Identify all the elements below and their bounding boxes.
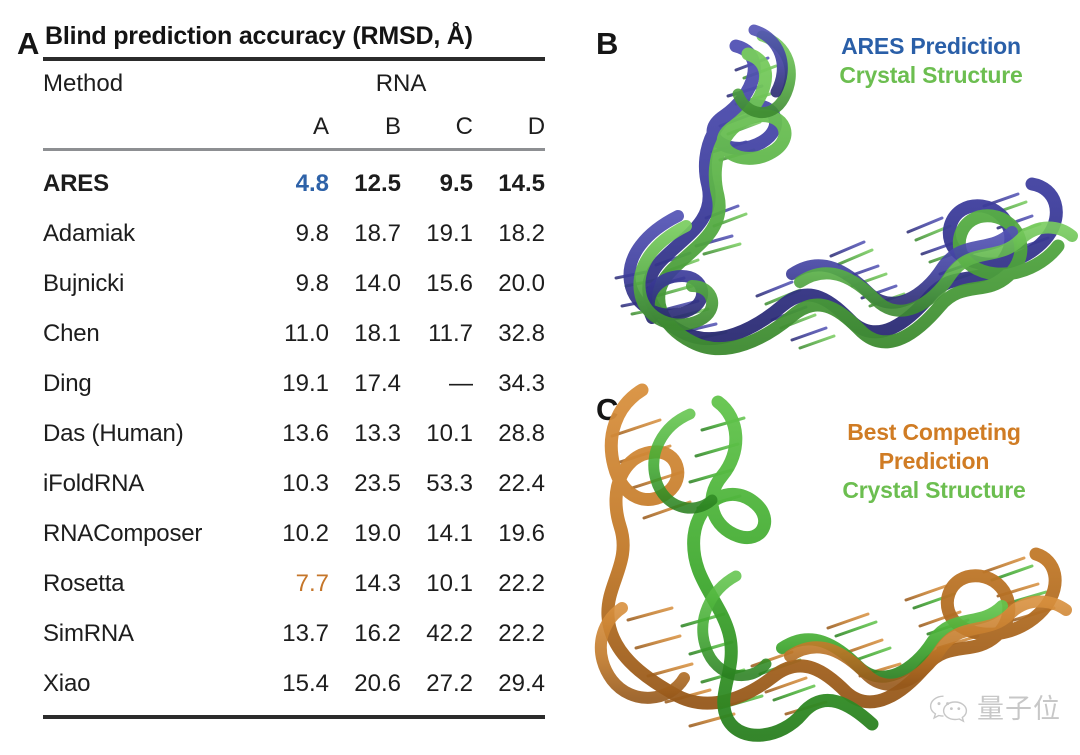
rmsd-value: 9.8 [257,259,329,309]
rmsd-value: 10.3 [257,459,329,509]
rmsd-value: 10.1 [401,409,473,459]
column-group-header-rna: RNA [257,61,545,107]
rmsd-value: 10.2 [257,509,329,559]
rmsd-value: 14.0 [329,259,401,309]
rmsd-value: 11.7 [401,309,473,359]
rmsd-value: 28.8 [473,409,545,459]
rmsd-value: 22.2 [473,609,545,659]
method-name: iFoldRNA [43,459,257,509]
rmsd-value: 23.5 [329,459,401,509]
legend-c-line-3: Crystal Structure [802,476,1066,505]
table-row: Ding19.117.4—34.3 [43,359,545,409]
rmsd-value: 13.6 [257,409,329,459]
watermark-text: 量子位 [977,696,1061,723]
table-row: Das (Human)13.613.310.128.8 [43,409,545,459]
panel-letter-a: A [17,28,39,59]
rmsd-value: 12.5 [329,159,401,209]
rmsd-value: 18.2 [473,209,545,259]
rmsd-value: 20.0 [473,259,545,309]
table-title: Blind prediction accuracy (RMSD, Å) [43,22,545,57]
subheader-rna-c: C [401,107,473,147]
panel-b-legend: ARES Prediction Crystal Structure [796,32,1066,90]
rmsd-value: 42.2 [401,609,473,659]
rmsd-value: 14.5 [473,159,545,209]
rmsd-value: 14.3 [329,559,401,609]
figure-root: A B C Blind prediction accuracy (RMSD, Å… [0,0,1080,755]
rmsd-value: 10.1 [401,559,473,609]
table-header-row: Method RNA [43,61,545,107]
method-name: RNAComposer [43,509,257,559]
watermark: 量子位 [928,686,1068,732]
table-row: Chen11.018.111.732.8 [43,309,545,359]
rmsd-value: 34.3 [473,359,545,409]
rmsd-value: 15.6 [401,259,473,309]
rmsd-value: 53.3 [401,459,473,509]
table-subheader-row: A B C D [43,107,545,147]
table-row: Bujnicki9.814.015.620.0 [43,259,545,309]
legend-c-line-2: Prediction [802,447,1066,476]
method-name: Adamiak [43,209,257,259]
rmsd-value: 19.1 [257,359,329,409]
subheader-rna-b: B [329,107,401,147]
rmsd-value: 19.0 [329,509,401,559]
rmsd-value: 29.4 [473,659,545,709]
subheader-spacer [43,107,257,147]
legend-b-line-1: ARES Prediction [796,32,1066,61]
rmsd-value: 9.5 [401,159,473,209]
table-row: RNAComposer10.219.014.119.6 [43,509,545,559]
rmsd-value: 4.8 [257,159,329,209]
rmsd-value: 13.3 [329,409,401,459]
subheader-rna-d: D [473,107,545,147]
table-row: ARES4.812.59.514.5 [43,159,545,209]
wechat-icon [928,693,970,725]
legend-b-line-2: Crystal Structure [796,61,1066,90]
rmsd-value: 15.4 [257,659,329,709]
method-name: Das (Human) [43,409,257,459]
legend-c-line-1: Best Competing [802,418,1066,447]
rmsd-value: 20.6 [329,659,401,709]
table-row: Rosetta7.714.310.122.2 [43,559,545,609]
method-name: SimRNA [43,609,257,659]
rmsd-value: 11.0 [257,309,329,359]
table-row: iFoldRNA10.323.553.322.4 [43,459,545,509]
table-row: Xiao15.420.627.229.4 [43,659,545,709]
rmsd-value: 19.6 [473,509,545,559]
column-header-method: Method [43,61,257,107]
table-rule-bottom [43,715,545,719]
table-row: Adamiak9.818.719.118.2 [43,209,545,259]
rmsd-value: 16.2 [329,609,401,659]
method-name: Chen [43,309,257,359]
subheader-rna-a: A [257,107,329,147]
table-row: SimRNA13.716.242.222.2 [43,609,545,659]
panel-b-structure: ARES Prediction Crystal Structure [586,10,1080,378]
rmsd-value: 19.1 [401,209,473,259]
rmsd-value: — [401,359,473,409]
rmsd-value: 22.4 [473,459,545,509]
rmsd-value: 7.7 [257,559,329,609]
rmsd-table: Method RNA A B C D [43,61,545,147]
method-name: ARES [43,159,257,209]
rmsd-table-body: ARES4.812.59.514.5Adamiak9.818.719.118.2… [43,151,545,715]
panel-c-legend: Best Competing Prediction Crystal Struct… [802,418,1066,505]
rmsd-value: 9.8 [257,209,329,259]
method-name: Rosetta [43,559,257,609]
rmsd-value: 22.2 [473,559,545,609]
rmsd-value: 13.7 [257,609,329,659]
method-name: Xiao [43,659,257,709]
table-spacer-top [43,151,545,159]
method-name: Bujnicki [43,259,257,309]
rmsd-value: 14.1 [401,509,473,559]
rmsd-value: 17.4 [329,359,401,409]
rmsd-value: 18.1 [329,309,401,359]
rmsd-value: 27.2 [401,659,473,709]
panel-a-table: Blind prediction accuracy (RMSD, Å) Meth… [43,22,545,719]
rmsd-value: 18.7 [329,209,401,259]
method-name: Ding [43,359,257,409]
rmsd-value: 32.8 [473,309,545,359]
